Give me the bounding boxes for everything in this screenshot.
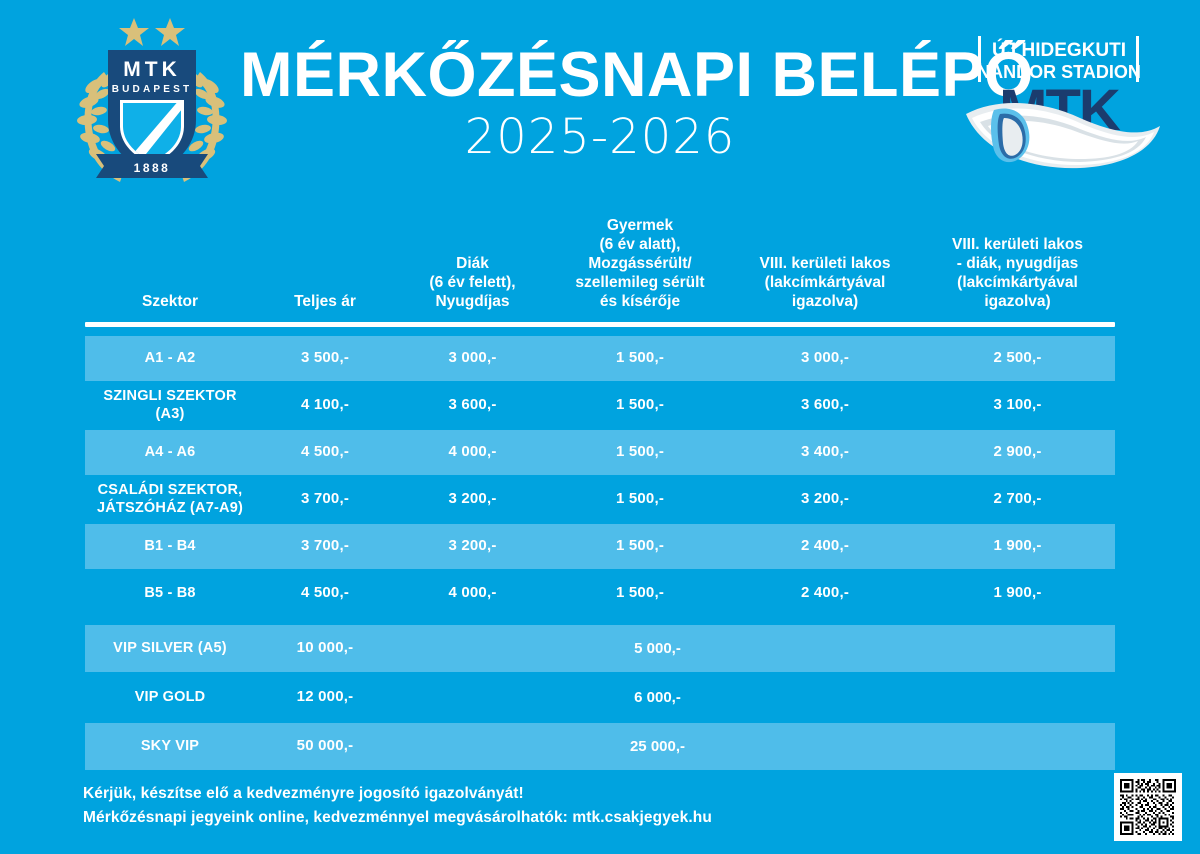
crest-stars-icon (119, 18, 185, 46)
ticket-price-poster: MTK BUDAPEST 1888 MÉRKŐZÉSNAPI BELÉPŐ 20… (0, 0, 1200, 854)
cell-student-price: 3 000,- (395, 349, 550, 367)
cell-child-price: 1 500,- (550, 349, 730, 367)
cell-district-student-price: 1 900,- (920, 584, 1115, 602)
column-header-sektor: Szektor (85, 293, 255, 312)
column-header-teljes-ar: Teljes ár (255, 293, 395, 312)
cell-district-student-price: 2 700,- (920, 490, 1115, 508)
svg-text:BUDAPEST: BUDAPEST (112, 84, 193, 95)
table-row: A1 - A2 3 500,- 3 000,- 1 500,- 3 000,- … (85, 336, 1115, 381)
svg-text:1888: 1888 (134, 161, 171, 175)
cell-full-price: 4 100,- (255, 396, 395, 414)
table-header-row: Szektor Teljes ár Diák (6 év felett), Ny… (85, 192, 1115, 320)
cell-district-price: 3 200,- (730, 490, 920, 508)
column-header-keruleti-lakos-diak: VIII. kerületi lakos - diák, nyugdíjas (… (920, 236, 1115, 312)
price-table: Szektor Teljes ár Diák (6 év felett), Ny… (85, 192, 1115, 772)
cell-sector: VIP SILVER (A5) (85, 640, 255, 658)
table-row: CSALÁDI SZEKTOR, JÁTSZÓHÁZ (A7-A9) 3 700… (85, 477, 1115, 522)
cell-child-price: 1 500,- (550, 490, 730, 508)
cell-sector: SKY VIP (85, 738, 255, 756)
cell-district-student-price: 2 500,- (920, 349, 1115, 367)
qr-code[interactable] (1114, 773, 1182, 841)
svg-text:MTK: MTK (123, 58, 181, 81)
cell-child-price: 1 500,- (550, 443, 730, 461)
cell-child-price: 1 500,- (550, 537, 730, 555)
cell-district-student-price: 2 900,- (920, 443, 1115, 461)
cell-child-price: 1 500,- (550, 396, 730, 414)
cell-district-student-price: 1 900,- (920, 537, 1115, 555)
footer-note-online-tickets: Mérkőzésnapi jegyeink online, kedvezménn… (83, 806, 983, 830)
footer-note-documents: Kérjük, készítse elő a kedvezményre jogo… (83, 782, 983, 806)
cell-district-price: 2 400,- (730, 537, 920, 555)
cell-district-price: 2 400,- (730, 584, 920, 602)
cell-sector: B5 - B8 (85, 585, 255, 603)
cell-district-student-price: 3 100,- (920, 396, 1115, 414)
cell-reduced-price: 6 000,- (395, 689, 920, 706)
table-row-vip: VIP GOLD 12 000,- 6 000,- (85, 674, 1115, 721)
section-gap (85, 618, 1115, 625)
cell-full-price: 10 000,- (255, 639, 395, 657)
cell-full-price: 4 500,- (255, 584, 395, 602)
cell-student-price: 3 600,- (395, 396, 550, 414)
cell-sector: SZINGLI SZEKTOR (A3) (85, 388, 255, 423)
cell-student-price: 3 200,- (395, 537, 550, 555)
table-row: SZINGLI SZEKTOR (A3) 4 100,- 3 600,- 1 5… (85, 383, 1115, 428)
stadium-logo-line1: ÚJ HIDEGKUTI (992, 39, 1126, 61)
header-divider (85, 322, 1115, 327)
cell-child-price: 1 500,- (550, 584, 730, 602)
column-header-keruleti-lakos: VIII. kerületi lakos (lakcímkártyával ig… (730, 255, 920, 312)
cell-reduced-price: 5 000,- (395, 640, 920, 657)
mtk-crest-logo: MTK BUDAPEST 1888 (62, 14, 242, 190)
stadium-logo: ÚJ HIDEGKUTI NÁNDOR STADION MTK (960, 18, 1170, 178)
cell-sector: VIP GOLD (85, 689, 255, 707)
table-row-vip: VIP SILVER (A5) 10 000,- 5 000,- (85, 625, 1115, 672)
cell-student-price: 4 000,- (395, 584, 550, 602)
cell-student-price: 3 200,- (395, 490, 550, 508)
cell-full-price: 50 000,- (255, 737, 395, 755)
page-title: MÉRKŐZÉSNAPI BELÉPŐ (240, 44, 960, 107)
cell-student-price: 4 000,- (395, 443, 550, 461)
cell-full-price: 3 700,- (255, 490, 395, 508)
table-row-vip: SKY VIP 50 000,- 25 000,- (85, 723, 1115, 770)
table-row: B1 - B4 3 700,- 3 200,- 1 500,- 2 400,- … (85, 524, 1115, 569)
cell-sector: CSALÁDI SZEKTOR, JÁTSZÓHÁZ (A7-A9) (85, 482, 255, 517)
cell-full-price: 12 000,- (255, 688, 395, 706)
table-body: A1 - A2 3 500,- 3 000,- 1 500,- 3 000,- … (85, 336, 1115, 770)
poster-title-block: MÉRKŐZÉSNAPI BELÉPŐ 2025-2026 (240, 44, 960, 161)
page-subtitle-season: 2025-2026 (240, 113, 960, 161)
cell-sector: A4 - A6 (85, 444, 255, 462)
cell-district-price: 3 400,- (730, 443, 920, 461)
cell-district-price: 3 000,- (730, 349, 920, 367)
column-header-gyermek: Gyermek (6 év alatt), Mozgássérült/ szel… (550, 217, 730, 312)
cell-sector: A1 - A2 (85, 350, 255, 368)
cell-district-price: 3 600,- (730, 396, 920, 414)
stadium-swoosh-icon (966, 103, 1160, 168)
cell-full-price: 3 700,- (255, 537, 395, 555)
poster-header: MTK BUDAPEST 1888 MÉRKŐZÉSNAPI BELÉPŐ 20… (0, 0, 1200, 190)
column-header-diak-nyugdijas: Diák (6 év felett), Nyugdíjas (395, 255, 550, 312)
poster-footer: Kérjük, készítse elő a kedvezményre jogo… (83, 782, 983, 830)
table-row: B5 - B8 4 500,- 4 000,- 1 500,- 2 400,- … (85, 571, 1115, 616)
cell-full-price: 4 500,- (255, 443, 395, 461)
table-row: A4 - A6 4 500,- 4 000,- 1 500,- 3 400,- … (85, 430, 1115, 475)
cell-reduced-price: 25 000,- (395, 738, 920, 755)
cell-sector: B1 - B4 (85, 538, 255, 556)
cell-full-price: 3 500,- (255, 349, 395, 367)
